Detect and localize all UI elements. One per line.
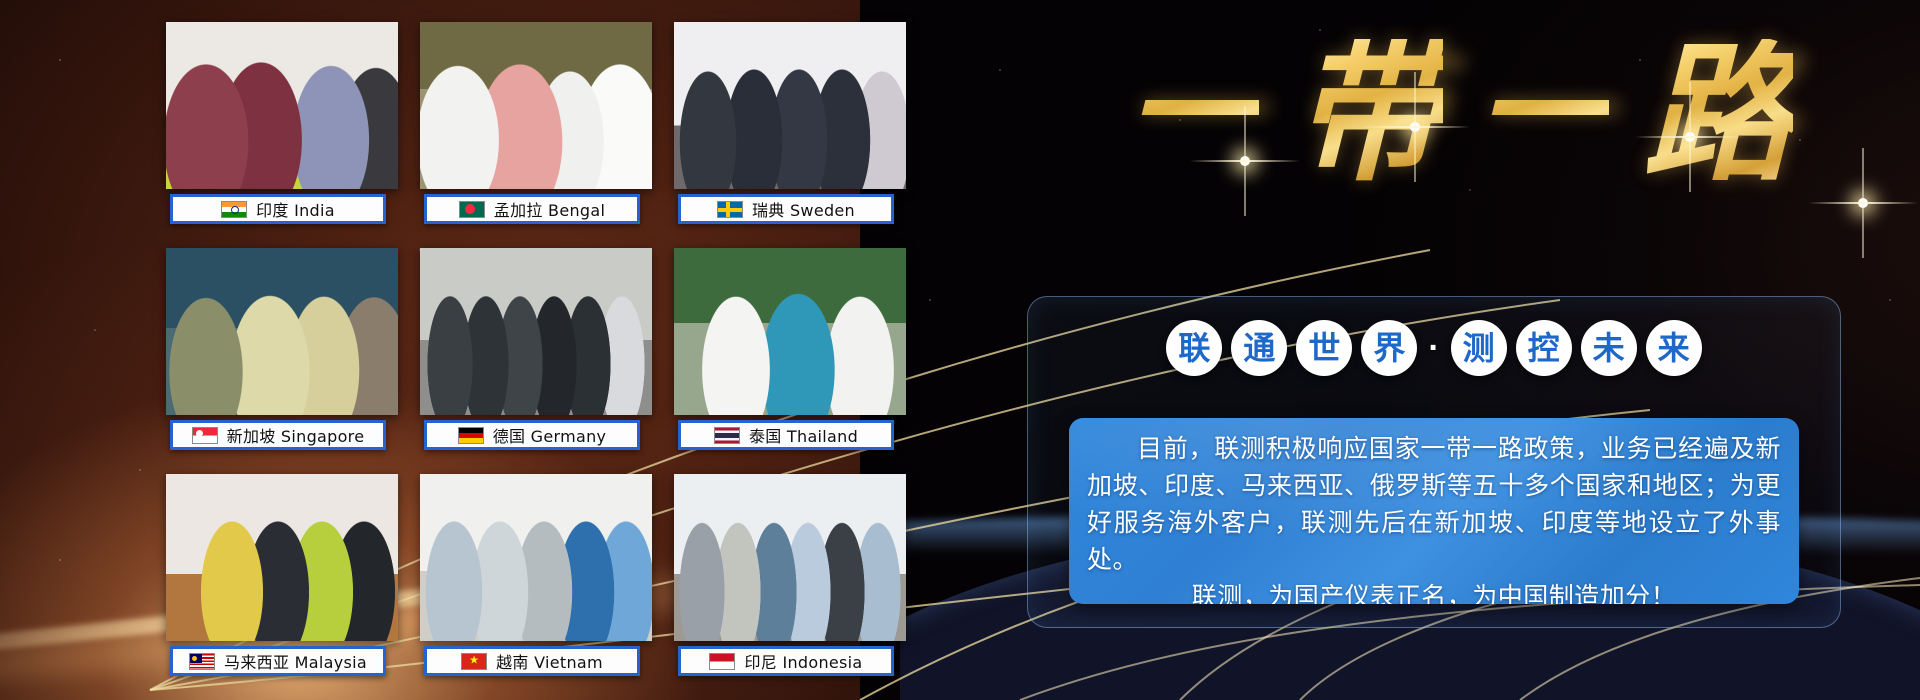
- country-photo: [166, 474, 398, 641]
- flag-india-icon: [221, 201, 247, 218]
- flag-indonesia-icon: [709, 653, 735, 670]
- country-label: 印度 India: [170, 194, 386, 224]
- description-paragraph-2: 联测，为国产仪表正名，为中国制造加分！: [1087, 578, 1781, 604]
- country-label: 新加坡 Singapore: [170, 420, 386, 450]
- slogan-bubble: 通: [1231, 320, 1287, 376]
- country-label-text: 马来西亚 Malaysia: [224, 649, 367, 673]
- slogan-bubble: 控: [1516, 320, 1572, 376]
- country-card[interactable]: 瑞典 Sweden: [674, 22, 906, 230]
- headline-char: 带: [1293, 39, 1443, 189]
- country-card[interactable]: 越南 Vietnam: [420, 474, 652, 682]
- description-paragraph-1: 目前，联测积极响应国家一带一路政策，业务已经遍及新加坡、印度、马来西亚、俄罗斯等…: [1087, 430, 1781, 578]
- flag-bangladesh-icon: [459, 201, 485, 218]
- slogan-bubble: 测: [1451, 320, 1507, 376]
- country-photo: [166, 248, 398, 415]
- country-label-text: 德国 Germany: [493, 423, 607, 447]
- country-label: 泰国 Thailand: [678, 420, 894, 450]
- flag-singapore-icon: [192, 427, 218, 444]
- headline-char: 一: [1477, 48, 1609, 180]
- country-card[interactable]: 泰国 Thailand: [674, 248, 906, 456]
- banner-stage: 印度 India 孟加拉 Bengal 瑞典 Sweden: [0, 0, 1920, 700]
- slogan-bubble: 未: [1581, 320, 1637, 376]
- country-card[interactable]: 印尼 Indonesia: [674, 474, 906, 682]
- sparkle-icon: [1858, 198, 1868, 208]
- country-photo: [420, 474, 652, 641]
- slogan-separator: ·: [1426, 331, 1441, 365]
- country-photo: [674, 474, 906, 641]
- headline-calligraphy: 一 带 一 路: [1020, 14, 1900, 214]
- country-card[interactable]: 德国 Germany: [420, 248, 652, 456]
- slogan-bubble: 世: [1296, 320, 1352, 376]
- flag-germany-icon: [458, 427, 484, 444]
- country-photo: [420, 22, 652, 189]
- flag-vietnam-icon: [461, 653, 487, 670]
- slogan-bubble: 界: [1361, 320, 1417, 376]
- country-label-text: 泰国 Thailand: [749, 423, 858, 447]
- country-label: 瑞典 Sweden: [678, 194, 894, 224]
- country-photo: [674, 22, 906, 189]
- country-photo: [166, 22, 398, 189]
- slogan-bubble: 联: [1166, 320, 1222, 376]
- country-label: 马来西亚 Malaysia: [170, 646, 386, 676]
- country-label-text: 越南 Vietnam: [496, 649, 603, 673]
- headline-char: 路: [1643, 39, 1793, 189]
- country-label: 印尼 Indonesia: [678, 646, 894, 676]
- country-card[interactable]: 孟加拉 Bengal: [420, 22, 652, 230]
- country-label-text: 印尼 Indonesia: [744, 649, 862, 673]
- country-card[interactable]: 新加坡 Singapore: [166, 248, 398, 456]
- slogan-row: 联 通 世 界 · 测 控 未 来: [1028, 313, 1840, 383]
- country-label: 德国 Germany: [424, 420, 640, 450]
- country-photo-grid: 印度 India 孟加拉 Bengal 瑞典 Sweden: [166, 22, 906, 682]
- country-label-text: 孟加拉 Bengal: [494, 197, 605, 221]
- country-label-text: 瑞典 Sweden: [752, 197, 855, 221]
- country-photo: [420, 248, 652, 415]
- message-panel: 联 通 世 界 · 测 控 未 来 目前，联测积极响应国家一带一路政策，业务已经…: [1027, 296, 1841, 628]
- flag-sweden-icon: [717, 201, 743, 218]
- country-photo: [674, 248, 906, 415]
- country-label: 越南 Vietnam: [424, 646, 640, 676]
- country-card[interactable]: 马来西亚 Malaysia: [166, 474, 398, 682]
- sparkle-icon: [1410, 122, 1420, 132]
- country-card[interactable]: 印度 India: [166, 22, 398, 230]
- country-label-text: 新加坡 Singapore: [227, 423, 365, 447]
- flag-malaysia-icon: [189, 653, 215, 670]
- slogan-bubble: 来: [1646, 320, 1702, 376]
- sparkle-icon: [1685, 132, 1695, 142]
- country-label: 孟加拉 Bengal: [424, 194, 640, 224]
- sparkle-icon: [1240, 156, 1250, 166]
- description-box: 目前，联测积极响应国家一带一路政策，业务已经遍及新加坡、印度、马来西亚、俄罗斯等…: [1069, 418, 1799, 604]
- country-label-text: 印度 India: [256, 197, 335, 221]
- flag-thailand-icon: [714, 427, 740, 444]
